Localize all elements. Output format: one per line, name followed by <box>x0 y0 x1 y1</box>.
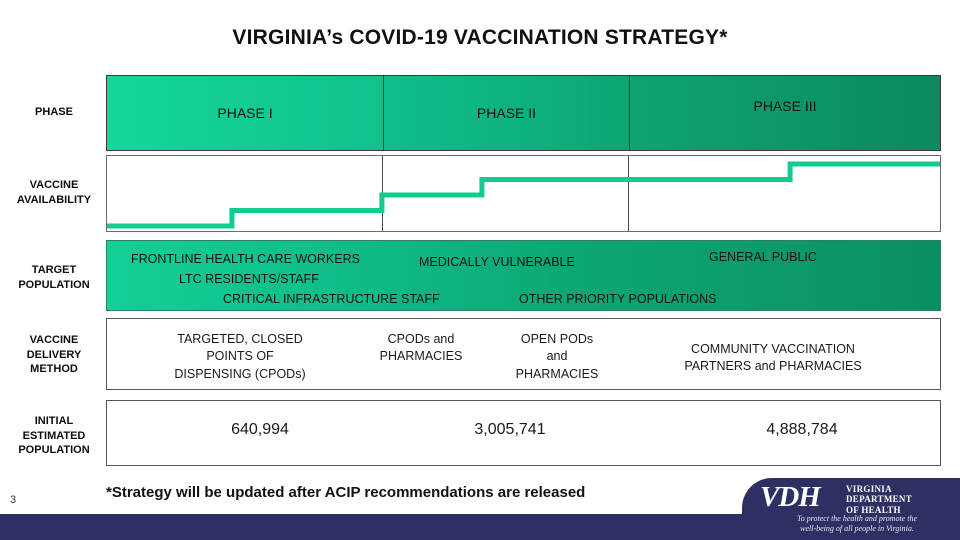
row-label-vaccine-delivery-method: VACCINE DELIVERY METHOD <box>4 333 104 377</box>
footnote-text: *Strategy will be updated after ACIP rec… <box>106 484 585 501</box>
delivery-method-open-pods: OPEN PODs and PHARMACIES <box>487 331 627 383</box>
page-title: VIRGINIA’s COVID-19 VACCINATION STRATEGY… <box>0 26 960 50</box>
row-label-initial-population-line1: INITIAL <box>4 414 104 429</box>
phase-cell-3[interactable]: PHASE III <box>629 76 940 150</box>
vdh-logo-inner: VDH VIRGINIA DEPARTMENT OF HEALTH To pro… <box>760 483 956 535</box>
vdh-wordmark-line2: DEPARTMENT <box>846 494 912 504</box>
phase-cell-1[interactable]: PHASE I <box>107 76 383 150</box>
delivery-method-1-line3: DISPENSING (CPODs) <box>129 366 351 383</box>
delivery-method-cpods-pharmacies: CPODs and PHARMACIES <box>351 331 491 366</box>
slide-canvas: VIRGINIA’s COVID-19 VACCINATION STRATEGY… <box>0 0 960 540</box>
vdh-wordmark: VIRGINIA DEPARTMENT OF HEALTH <box>846 484 912 515</box>
slide-number: 3 <box>10 494 16 506</box>
vdh-logo: VDH VIRGINIA DEPARTMENT OF HEALTH To pro… <box>742 478 960 540</box>
phase-label-3: PHASE III <box>753 98 816 114</box>
row-label-vaccine-availability-line1: VACCINE <box>4 178 104 193</box>
delivery-method-targeted-cpods: TARGETED, CLOSED POINTS OF DISPENSING (C… <box>129 331 351 383</box>
target-population-item-ltc: LTC RESIDENTS/STAFF <box>179 272 319 286</box>
availability-step-line <box>107 156 940 231</box>
target-population-item-general-public: GENERAL PUBLIC <box>709 250 817 264</box>
delivery-method-3-line3: PHARMACIES <box>487 366 627 383</box>
row-label-target-population-line1: TARGET <box>4 263 104 278</box>
row-label-vaccine-delivery-line2: DELIVERY <box>4 348 104 363</box>
row-label-vaccine-delivery-line1: VACCINE <box>4 333 104 348</box>
row-label-vaccine-availability: VACCINE AVAILABILITY <box>4 178 104 207</box>
row-label-initial-estimated-population: INITIAL ESTIMATED POPULATION <box>4 414 104 458</box>
phase-label-2: PHASE II <box>477 105 536 121</box>
vdh-tagline-line2: well-being of all people in Virginia. <box>762 524 952 534</box>
delivery-method-2-line1: CPODs and <box>351 331 491 348</box>
target-population-item-frontline: FRONTLINE HEALTH CARE WORKERS <box>131 252 360 266</box>
vdh-wordmark-line1: VIRGINIA <box>846 484 912 494</box>
target-population-item-critical: CRITICAL INFRASTRUCTURE STAFF <box>223 292 440 306</box>
row-label-vaccine-availability-line2: AVAILABILITY <box>4 193 104 208</box>
delivery-method-4-line2: PARTNERS and PHARMACIES <box>623 358 923 375</box>
vdh-tagline: To protect the health and promote the we… <box>762 514 952 535</box>
initial-population-value-phase-1: 640,994 <box>135 421 385 439</box>
delivery-method-4-line1: COMMUNITY VACCINATION <box>623 341 923 358</box>
vaccine-delivery-method-row: TARGETED, CLOSED POINTS OF DISPENSING (C… <box>106 318 941 390</box>
phase-cell-2[interactable]: PHASE II <box>383 76 629 150</box>
target-population-item-other-priority: OTHER PRIORITY POPULATIONS <box>519 292 717 306</box>
vdh-monogram: VDH <box>760 483 820 512</box>
initial-population-value-phase-2: 3,005,741 <box>385 421 635 439</box>
delivery-method-2-line2: PHARMACIES <box>351 348 491 365</box>
delivery-method-3-line2: and <box>487 348 627 365</box>
row-label-vaccine-delivery-line3: METHOD <box>4 362 104 377</box>
vdh-tagline-line1: To protect the health and promote the <box>762 514 952 524</box>
delivery-method-1-line2: POINTS OF <box>129 348 351 365</box>
row-label-phase: PHASE <box>4 105 104 120</box>
phase-label-1: PHASE I <box>217 105 272 121</box>
vaccine-availability-chart <box>106 155 941 232</box>
delivery-method-community-partners: COMMUNITY VACCINATION PARTNERS and PHARM… <box>623 341 923 376</box>
initial-population-value-phase-3: 4,888,784 <box>677 421 927 439</box>
target-population-row: FRONTLINE HEALTH CARE WORKERS LTC RESIDE… <box>106 240 941 311</box>
row-label-initial-population-line2: ESTIMATED <box>4 429 104 444</box>
delivery-method-1-line1: TARGETED, CLOSED <box>129 331 351 348</box>
row-label-target-population-line2: POPULATION <box>4 278 104 293</box>
phase-row: PHASE I PHASE II PHASE III <box>106 75 941 151</box>
row-label-initial-population-line3: POPULATION <box>4 443 104 458</box>
initial-estimated-population-row: 640,994 3,005,741 4,888,784 <box>106 400 941 466</box>
delivery-method-3-line1: OPEN PODs <box>487 331 627 348</box>
target-population-item-medically: MEDICALLY VULNERABLE <box>419 255 575 269</box>
row-label-target-population: TARGET POPULATION <box>4 263 104 292</box>
